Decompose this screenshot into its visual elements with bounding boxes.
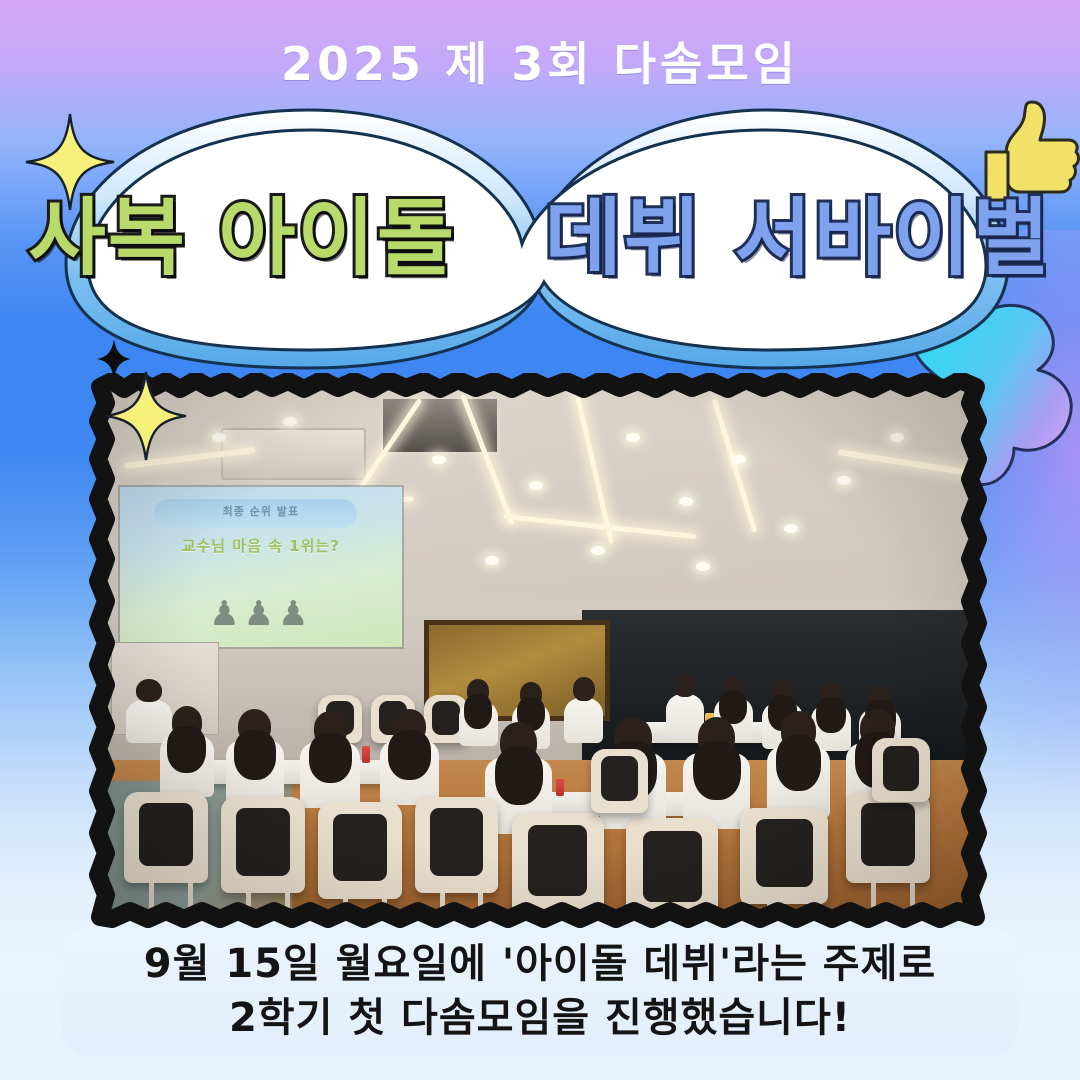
headline-green-part: 사복 아이돌 xyxy=(28,189,456,287)
event-photo-frame: 최종 순위 발표 교수님 마음 속 1위는? ♟♟♟ xyxy=(98,385,978,920)
poster-headline: 사복 아이돌 데뷔 서바이벌 xyxy=(0,196,1080,280)
photo-ragged-border xyxy=(86,373,990,932)
poster-kicker: 2025 제 3회 다솜모임 xyxy=(0,28,1080,94)
poster-canvas: 2025 제 3회 다솜모임 사복 아이돌 데뷔 xyxy=(0,0,1080,1080)
caption-line-2: 2학기 첫 다솜모임을 진행했습니다! xyxy=(229,992,851,1046)
caption-line-1: 9월 15일 월요일에 '아이돌 데뷔'라는 주제로 xyxy=(144,938,936,992)
headline-blue-part: 데뷔 서바이벌 xyxy=(545,189,1052,287)
caption-box: 9월 15일 월요일에 '아이돌 데뷔'라는 주제로 2학기 첫 다솜모임을 진… xyxy=(62,928,1018,1056)
